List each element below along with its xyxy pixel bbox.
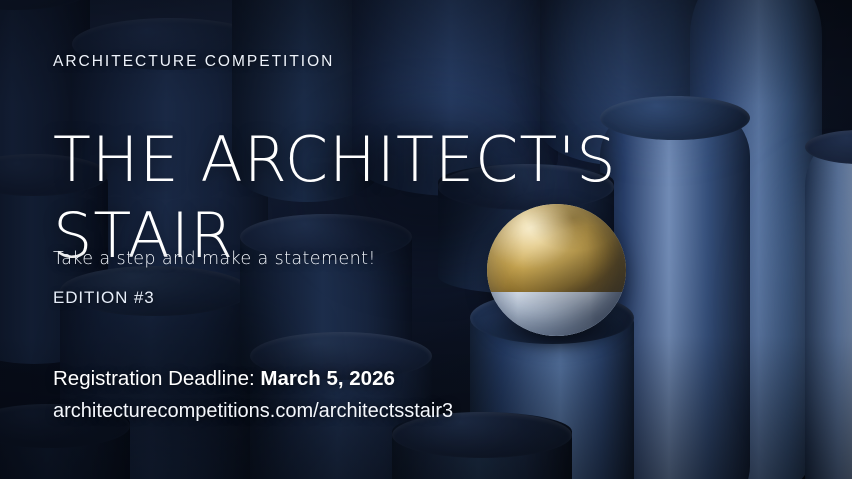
eyebrow-label: ARCHITECTURE COMPETITION <box>53 53 334 71</box>
competition-url[interactable]: architecturecompetitions.com/architectss… <box>53 400 453 423</box>
poster-copy: ARCHITECTURE COMPETITION THE ARCHITECT'S… <box>53 0 673 479</box>
deadline-label: Registration Deadline: <box>53 367 255 390</box>
edition-label: EDITION #3 <box>53 288 155 308</box>
deadline-date: March 5, 2026 <box>260 367 394 390</box>
registration-deadline: Registration Deadline: March 5, 2026 <box>53 367 395 391</box>
tagline-text: Take a step and make a statement! <box>53 249 376 269</box>
background-cylinder <box>805 130 852 479</box>
headline-line-1: THE ARCHITECT'S <box>53 123 617 196</box>
poster-canvas: ARCHITECTURE COMPETITION THE ARCHITECT'S… <box>0 0 852 479</box>
